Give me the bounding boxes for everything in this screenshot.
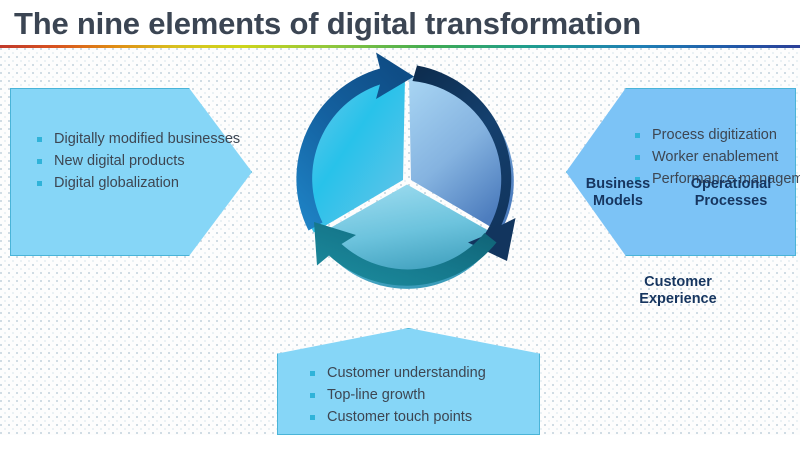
- segment-label-operational-processes: Operational Processes: [682, 176, 780, 210]
- bullet-list: Customer understanding Top-line growth C…: [307, 364, 570, 427]
- cycle-diagram: Business Models Operational Processes Cu…: [272, 46, 542, 316]
- list-item: Digitally modified businesses: [34, 130, 276, 149]
- list-item: Worker enablement: [632, 148, 800, 167]
- page-title: The nine elements of digital transformat…: [14, 2, 784, 46]
- cycle-diagram-svg: [272, 46, 542, 316]
- callout-text: Digitally modified businesses New digita…: [10, 88, 276, 298]
- customer-experience-callout[interactable]: Customer understanding Top-line growth C…: [277, 328, 540, 435]
- list-item: Customer understanding: [307, 364, 570, 383]
- list-item: Customer touch points: [307, 408, 570, 427]
- list-item: Digital globalization: [34, 174, 276, 193]
- list-item: Process digitization: [632, 126, 800, 145]
- operational-processes-callout[interactable]: Process digitization Worker enablement P…: [566, 88, 796, 256]
- segment-label-customer-experience: Customer Experience: [620, 274, 736, 308]
- list-item: Top-line growth: [307, 386, 570, 405]
- callout-text: Customer understanding Top-line growth C…: [277, 328, 570, 471]
- bullet-list: Digitally modified businesses New digita…: [34, 130, 276, 193]
- segment-label-business-models: Business Models: [572, 176, 664, 210]
- list-item: New digital products: [34, 152, 276, 171]
- business-models-callout[interactable]: Digitally modified businesses New digita…: [10, 88, 252, 256]
